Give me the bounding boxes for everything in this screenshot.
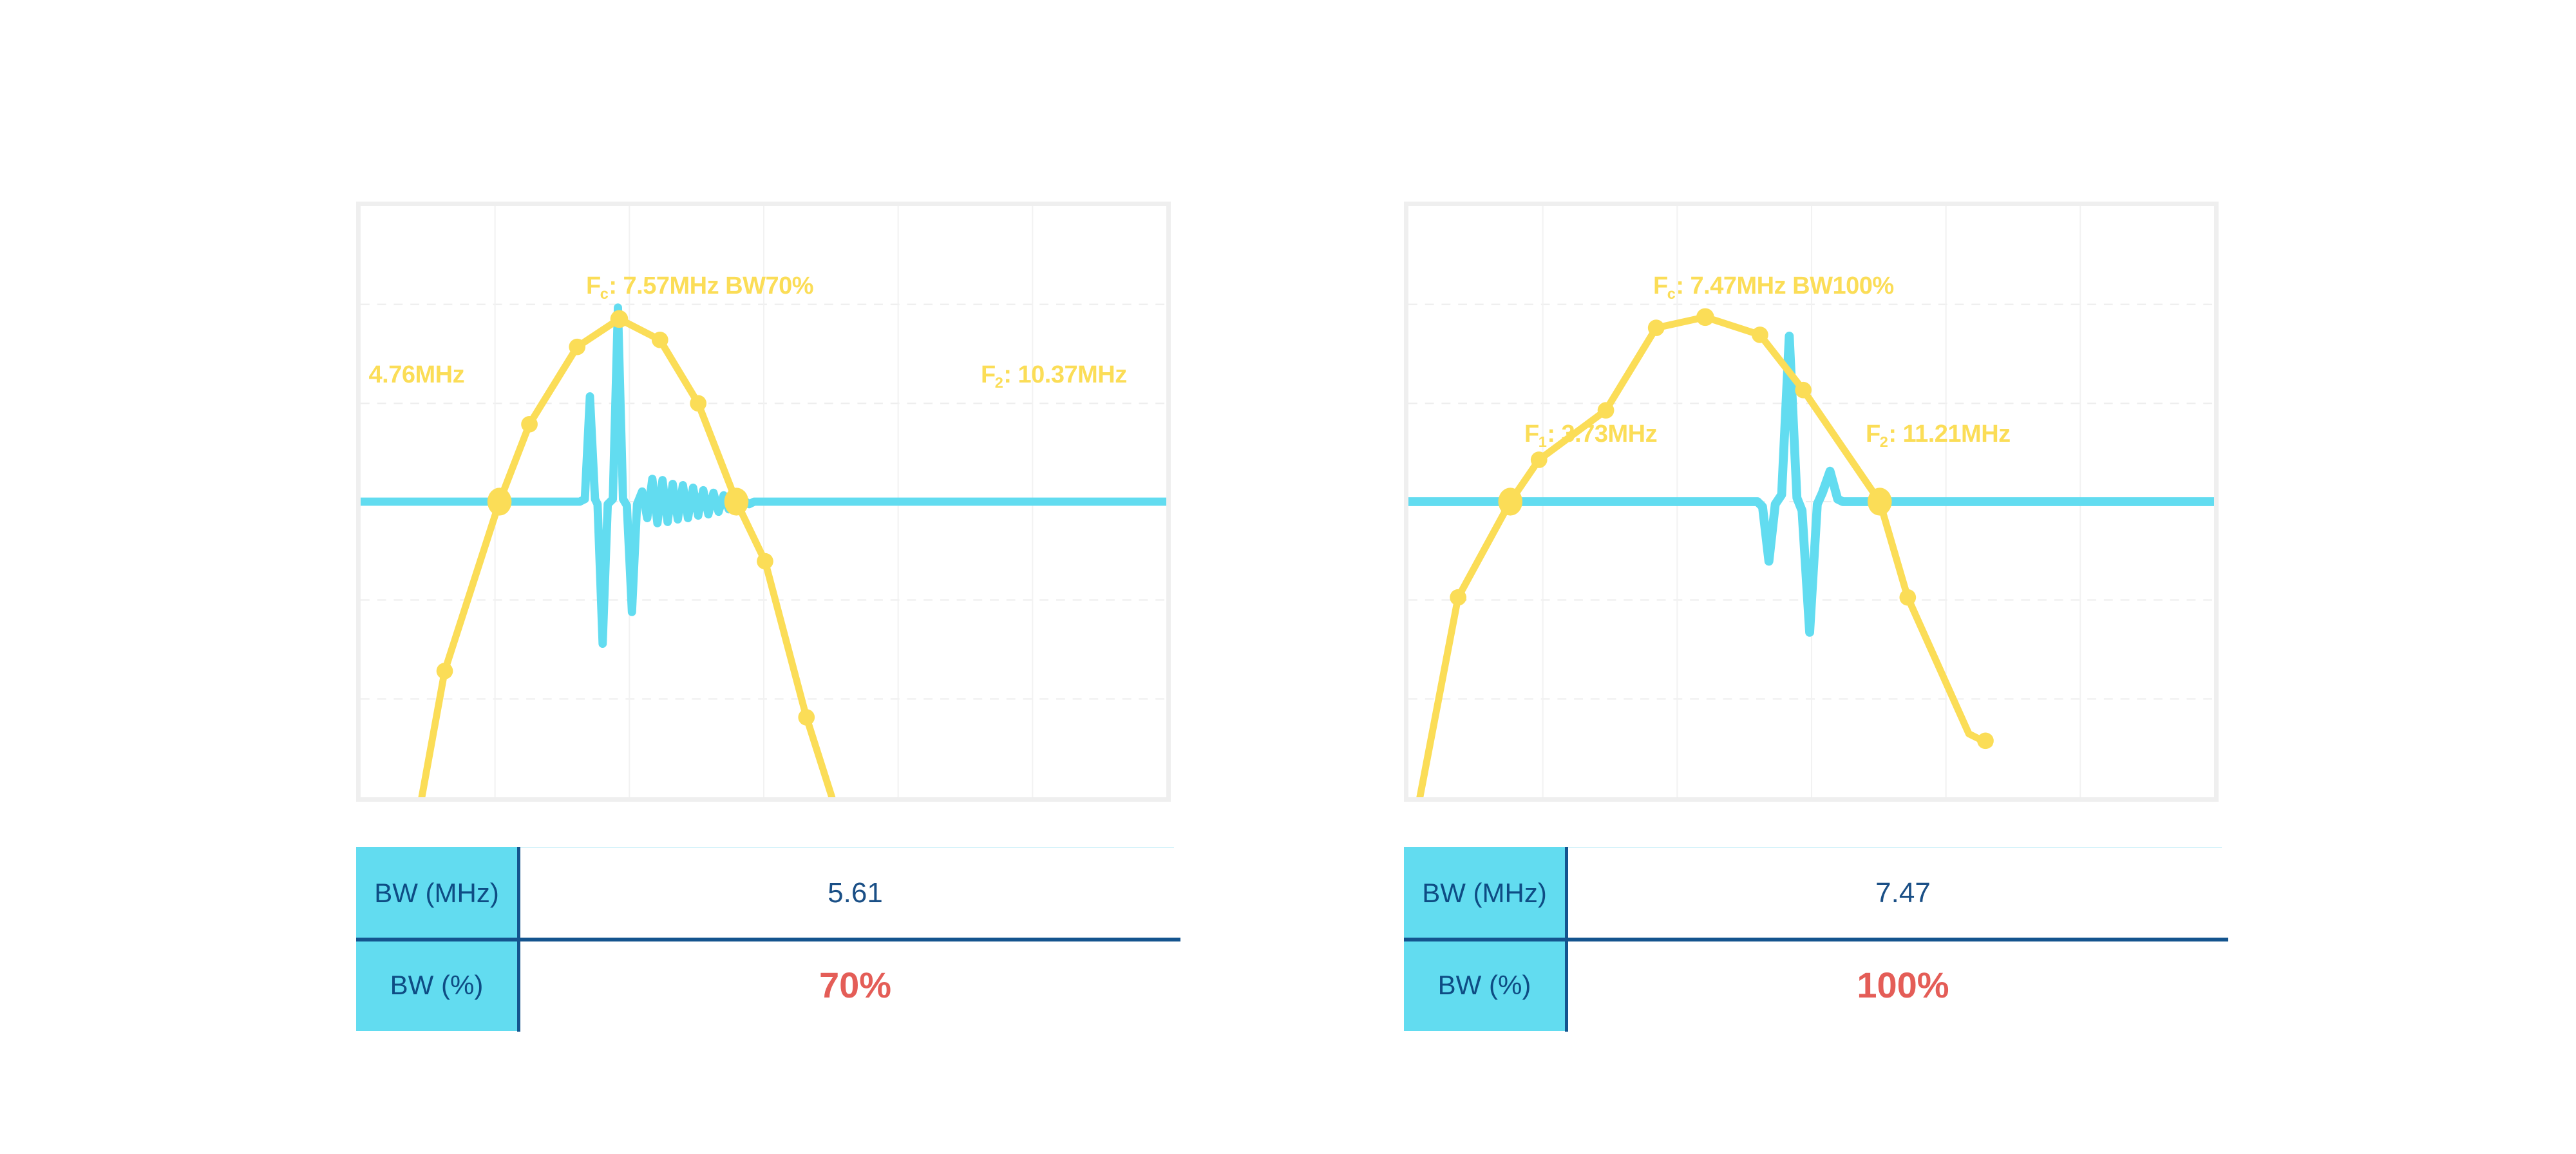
pulse-waveform-left (361, 308, 1166, 644)
f2-subscript: 2 (1880, 433, 1888, 450)
spectrum-curve-right (1420, 317, 1989, 797)
f1-text: : 3.73MHz (1547, 421, 1657, 448)
pulse-waveform-right (1408, 336, 2214, 632)
fc-text: : 7.47MHz BW100% (1676, 272, 1893, 299)
upper-frequency-label-left: F2: 10.37MHz (981, 363, 1127, 387)
center-frequency-label-left: Fc: 7.57MHz BW70% (586, 274, 813, 298)
table-top-edge (517, 847, 1174, 848)
table-row-divider (356, 938, 1180, 941)
bw70-panel: Fc: 7.57MHz BW70% F1: 4.76MHz F2: 10.37M… (356, 202, 1171, 802)
row-label-bw-pct: BW (%) (356, 939, 517, 1031)
upper-frequency-label-right: F2: 11.21MHz (1866, 422, 2011, 446)
row-value-bw-mhz: 5.61 (517, 847, 1193, 939)
table-row-divider (1404, 938, 2228, 941)
fc-subscript: c (600, 285, 609, 302)
bw-mhz-value: 7.47 (1875, 877, 1931, 909)
fc-prefix: F (586, 272, 601, 299)
f2-prefix: F (981, 361, 996, 388)
bw70-plot-area: Fc: 7.57MHz BW70% F1: 4.76MHz F2: 10.37M… (361, 206, 1166, 797)
table-row: BW (MHz) 5.61 (356, 847, 1193, 939)
center-frequency-label-right: Fc: 7.47MHz BW100% (1653, 274, 1894, 298)
f2-text: : 10.37MHz (1003, 361, 1126, 388)
spectrum-markers-right (1450, 308, 1994, 750)
fc-prefix: F (1653, 272, 1668, 299)
f2-text: : 11.21MHz (1888, 421, 2010, 448)
bw-mhz-value: 5.61 (828, 877, 883, 909)
f2-prefix: F (1866, 421, 1880, 448)
row-label-bw-mhz: BW (MHz) (356, 847, 517, 939)
bw-pct-value: 100% (1857, 964, 1949, 1006)
bw100-plot-area: Fc: 7.47MHz BW100% F1: 3.73MHz F2: 11.21… (1408, 206, 2214, 797)
panel-container: Fc: 7.57MHz BW70% F1: 4.76MHz F2: 10.37M… (0, 0, 2576, 1154)
f1-subscript: 1 (1539, 433, 1547, 450)
bw70-chart-box: Fc: 7.57MHz BW70% F1: 4.76MHz F2: 10.37M… (356, 202, 1171, 802)
row-value-bw-pct: 70% (517, 939, 1193, 1031)
row-label-bw-mhz: BW (MHz) (1404, 847, 1565, 939)
row-label-bw-pct: BW (%) (1404, 939, 1565, 1031)
table-row: BW (%) 70% (356, 939, 1193, 1031)
bw100-result-table: BW (MHz) 7.47 BW (%) 100% (1404, 847, 2241, 1032)
table-row: BW (MHz) 7.47 (1404, 847, 2241, 939)
f1-prefix: F (1524, 421, 1539, 448)
row-value-bw-pct: 100% (1565, 939, 2241, 1031)
fc-subscript: c (1667, 285, 1676, 302)
lower-frequency-label-right: F1: 3.73MHz (1524, 422, 1657, 446)
bw70-result-table: BW (MHz) 5.61 BW (%) 70% (356, 847, 1193, 1032)
f1-text: : 4.76MHz (361, 361, 464, 388)
f2-subscript: 2 (995, 374, 1003, 391)
bw100-panel: Fc: 7.47MHz BW100% F1: 3.73MHz F2: 11.21… (1404, 202, 2219, 802)
bw100-chart-box: Fc: 7.47MHz BW100% F1: 3.73MHz F2: 11.21… (1404, 202, 2219, 802)
table-row: BW (%) 100% (1404, 939, 2241, 1031)
lower-frequency-label-left: F1: 4.76MHz (361, 363, 464, 387)
bw-pct-value: 70% (819, 964, 891, 1006)
row-value-bw-mhz: 7.47 (1565, 847, 2241, 939)
table-top-edge (1565, 847, 2222, 848)
fc-text: : 7.57MHz BW70% (609, 272, 813, 299)
